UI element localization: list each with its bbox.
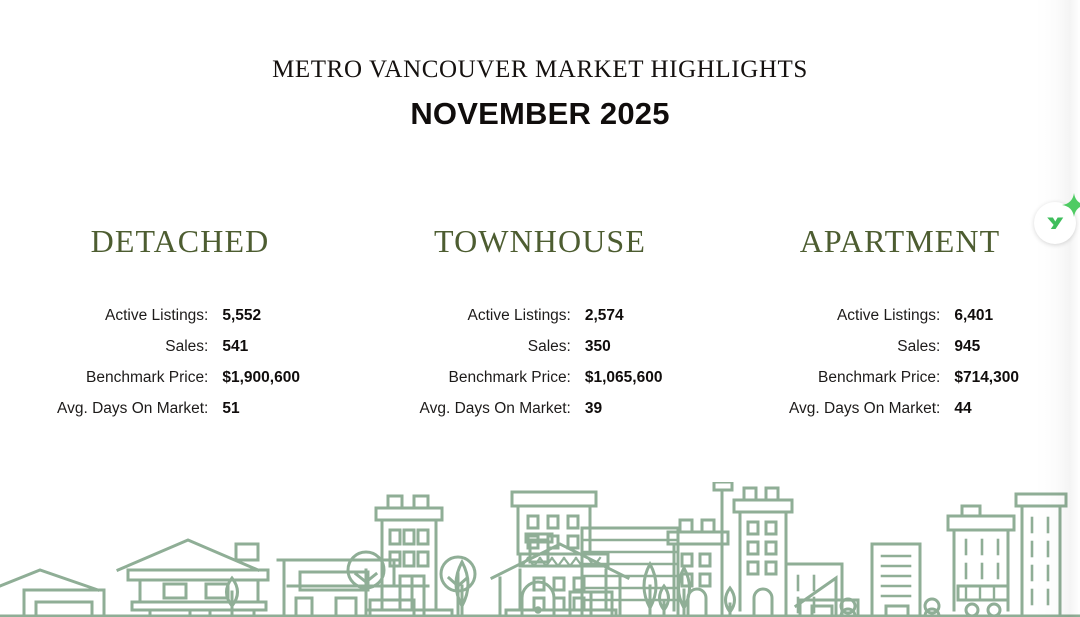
stat-value-benchmark-price: $714,300 — [954, 362, 1019, 393]
stats-table-apartment: Active Listings: 6,401 Sales: 945 Benchm… — [789, 300, 1019, 424]
stat-value-sales: 350 — [585, 331, 663, 362]
header: METRO VANCOUVER MARKET HIGHLIGHTS NOVEMB… — [0, 0, 1080, 131]
stat-value-avg-days-on-market: 44 — [954, 393, 1019, 424]
market-column-townhouse: TOWNHOUSE Active Listings: 2,574 Sales: … — [360, 222, 720, 424]
stat-value-active-listings: 6,401 — [954, 300, 1019, 331]
stats-table-townhouse: Active Listings: 2,574 Sales: 350 Benchm… — [420, 300, 663, 424]
stat-value-benchmark-price: $1,065,600 — [585, 362, 663, 393]
stat-label-active-listings: Active Listings: — [789, 300, 940, 331]
stat-label-benchmark-price: Benchmark Price: — [57, 362, 208, 393]
market-stats-columns: DETACHED Active Listings: 5,552 Sales: 5… — [0, 222, 1080, 424]
market-column-detached: DETACHED Active Listings: 5,552 Sales: 5… — [0, 222, 360, 424]
chat-widget-button[interactable] — [1034, 202, 1076, 244]
stat-label-avg-days-on-market: Avg. Days On Market: — [57, 393, 208, 424]
stat-value-benchmark-price: $1,900,600 — [222, 362, 300, 393]
stat-value-avg-days-on-market: 39 — [585, 393, 663, 424]
report-month-title: NOVEMBER 2025 — [0, 85, 1080, 132]
stat-value-active-listings: 2,574 — [585, 300, 663, 331]
market-column-apartment: APARTMENT Active Listings: 6,401 Sales: … — [720, 222, 1080, 424]
page-title: METRO VANCOUVER MARKET HIGHLIGHTS — [0, 0, 1080, 85]
city-skyline-illustration — [0, 482, 1080, 617]
sparkle-icon — [1061, 192, 1080, 218]
stat-value-sales: 541 — [222, 331, 300, 362]
stat-value-sales: 945 — [954, 331, 1019, 362]
stat-label-active-listings: Active Listings: — [57, 300, 208, 331]
stat-label-avg-days-on-market: Avg. Days On Market: — [789, 393, 940, 424]
stat-value-avg-days-on-market: 51 — [222, 393, 300, 424]
stat-label-benchmark-price: Benchmark Price: — [420, 362, 571, 393]
column-heading-apartment: APARTMENT — [800, 222, 1001, 260]
stat-label-sales: Sales: — [57, 331, 208, 362]
column-heading-detached: DETACHED — [91, 222, 270, 260]
stat-label-sales: Sales: — [420, 331, 571, 362]
stat-value-active-listings: 5,552 — [222, 300, 300, 331]
column-heading-townhouse: TOWNHOUSE — [434, 222, 646, 260]
stat-label-avg-days-on-market: Avg. Days On Market: — [420, 393, 571, 424]
stat-label-benchmark-price: Benchmark Price: — [789, 362, 940, 393]
stat-label-active-listings: Active Listings: — [420, 300, 571, 331]
stat-label-sales: Sales: — [789, 331, 940, 362]
stats-table-detached: Active Listings: 5,552 Sales: 541 Benchm… — [57, 300, 300, 424]
market-highlights-page: METRO VANCOUVER MARKET HIGHLIGHTS NOVEMB… — [0, 0, 1080, 617]
